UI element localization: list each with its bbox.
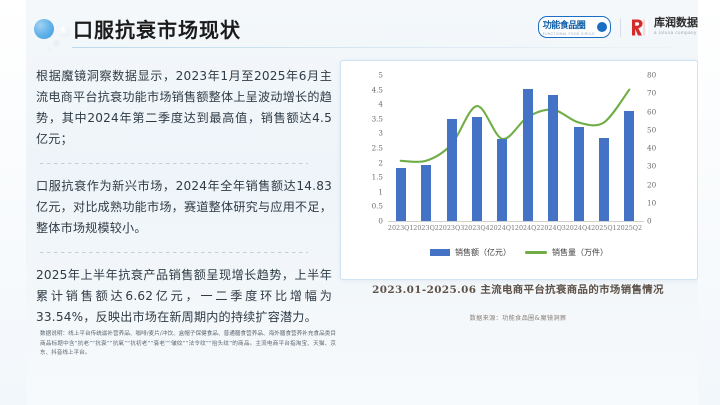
chart-y-axis-left: 00.511.522.533.544.55 — [355, 75, 383, 221]
chart-legend-label: 销售量（万件） — [552, 247, 608, 258]
chart-series-layer — [388, 75, 642, 221]
chart-y-tick-left: 1.5 — [372, 173, 383, 182]
chart-bar — [523, 89, 533, 221]
chart-x-tick-label: 2024Q3 — [540, 224, 566, 232]
chart-y-tick-right: 10 — [647, 198, 656, 207]
slide-header: 口服抗衰市场现状 功能食品圈 FUNCTIONAL FOOD CIRCLE — [0, 0, 720, 52]
title-underline-divider — [72, 47, 672, 48]
insight-paragraph-1: 根据魔镜洞察数据显示，2023年1月至2025年6月主流电商平台抗衰功能市场销售… — [36, 66, 332, 150]
chart-legend-item[interactable]: 销售额（亿元） — [430, 247, 511, 258]
brand-divider — [620, 18, 621, 37]
chart-y-tick-left: 4.5 — [372, 85, 383, 94]
chart-x-axis-line — [388, 221, 644, 222]
chart-y-tick-right: 30 — [647, 162, 656, 171]
chart-caption: 2023.01-2025.06 主流电商平台抗衰商品的市场销售情况 — [340, 281, 696, 296]
insight-paragraph-3: 2025年上半年抗衰产品销售额呈现增长趋势，上半年累计销售额达6.62亿元，一二… — [36, 265, 332, 328]
chart-card: 00.511.522.533.544.55 01020304050607080 … — [340, 60, 698, 280]
brand-logo-kurun-data: 库润数据 a toluna company — [630, 18, 698, 37]
decor-circle-medium-icon — [59, 26, 70, 37]
paragraph-divider-2 — [40, 252, 308, 253]
page-title: 口服抗衰市场现状 — [73, 14, 241, 43]
chart-bar — [396, 168, 406, 221]
chart-x-tick-label: 2024Q2 — [515, 224, 541, 232]
chart-bar — [472, 117, 482, 221]
chart-y-tick-left: 3 — [378, 129, 383, 138]
kurun-r-mark-icon — [630, 18, 650, 37]
chart-legend-label: 销售额（亿元） — [455, 247, 511, 258]
brand-primary-dot-icon — [597, 22, 607, 32]
chart-y-tick-left: 0 — [378, 217, 383, 226]
decor-circle-large-icon — [34, 19, 54, 39]
legend-line-swatch-icon — [525, 251, 547, 254]
chart-y-axis-right: 01020304050607080 — [647, 75, 673, 221]
chart-bar — [574, 127, 584, 221]
chart-legend-item[interactable]: 销售量（万件） — [525, 247, 608, 258]
chart-source-note: 数据来源：功能食品圈&魔镜洞察 — [340, 313, 696, 322]
chart-bar — [421, 165, 431, 221]
chart-y-tick-left: 2.5 — [372, 144, 383, 153]
paragraph-divider-1 — [40, 163, 308, 164]
chart-x-tick-label: 2023Q1 — [388, 224, 414, 232]
brand-primary-sublabel: FUNCTIONAL FOOD CIRCLE — [543, 32, 595, 36]
chart-y-tick-left: 2 — [378, 158, 383, 167]
decor-circle-tiny-icon — [48, 48, 53, 53]
chart-bar — [599, 138, 609, 221]
chart-y-tick-left: 1 — [378, 187, 383, 196]
chart-x-axis-labels: 2023Q12023Q22023Q32023Q42024Q12024Q22024… — [388, 224, 642, 238]
chart-bar — [447, 119, 457, 221]
chart-y-tick-left: 0.5 — [372, 202, 383, 211]
legend-bar-swatch-icon — [430, 249, 450, 256]
chart-legend: 销售额（亿元）销售量（万件） — [341, 247, 697, 258]
brand-secondary-label: 库润数据 — [654, 18, 698, 29]
chart-bar — [624, 111, 634, 221]
chart-plot-area: 00.511.522.533.544.55 01020304050607080 … — [341, 61, 697, 279]
chart-x-tick-label: 2023Q4 — [464, 224, 490, 232]
chart-bar — [497, 139, 507, 221]
chart-y-tick-left: 3.5 — [372, 114, 383, 123]
chart-x-tick-label: 2024Q4 — [566, 224, 592, 232]
brand-secondary-sublabel: a toluna company — [654, 31, 698, 35]
chart-y-tick-right: 0 — [647, 217, 652, 226]
chart-y-tick-right: 40 — [647, 144, 656, 153]
chart-bar — [548, 95, 558, 221]
chart-x-tick-label: 2025Q2 — [617, 224, 643, 232]
brand-primary-label: 功能食品圈 — [543, 18, 586, 31]
chart-y-tick-right: 50 — [647, 125, 656, 134]
insight-text-column: 根据魔镜洞察数据显示，2023年1月至2025年6月主流电商平台抗衰功能市场销售… — [36, 66, 332, 328]
chart-x-tick-label: 2023Q2 — [413, 224, 439, 232]
insight-paragraph-2: 口服抗衰作为新兴市场，2024年全年销售额达14.83亿元，对比成熟功能市场，赛… — [36, 176, 332, 239]
chart-x-tick-label: 2023Q3 — [439, 224, 465, 232]
data-note-footnote: 数据说明：线上平台传统滋补营养品、咖啡/麦片/冲饮、盒帽子保健食品、普通膳食营养… — [40, 330, 336, 359]
chart-y-tick-right: 60 — [647, 107, 656, 116]
slide-background: 口服抗衰市场现状 功能食品圈 FUNCTIONAL FOOD CIRCLE — [0, 0, 720, 405]
chart-y-tick-left: 4 — [378, 100, 383, 109]
chart-y-tick-left: 5 — [378, 71, 383, 80]
chart-x-tick-label: 2025Q1 — [591, 224, 617, 232]
chart-y-tick-right: 80 — [647, 71, 656, 80]
chart-y-tick-right: 20 — [647, 180, 656, 189]
decor-circle-small-icon — [53, 40, 60, 47]
brand-logo-group: 功能食品圈 FUNCTIONAL FOOD CIRCLE 库润数据 — [538, 16, 698, 38]
brand-logo-functional-food-circle: 功能食品圈 FUNCTIONAL FOOD CIRCLE — [538, 16, 611, 38]
chart-y-tick-right: 70 — [647, 89, 656, 98]
chart-x-tick-label: 2024Q1 — [490, 224, 516, 232]
